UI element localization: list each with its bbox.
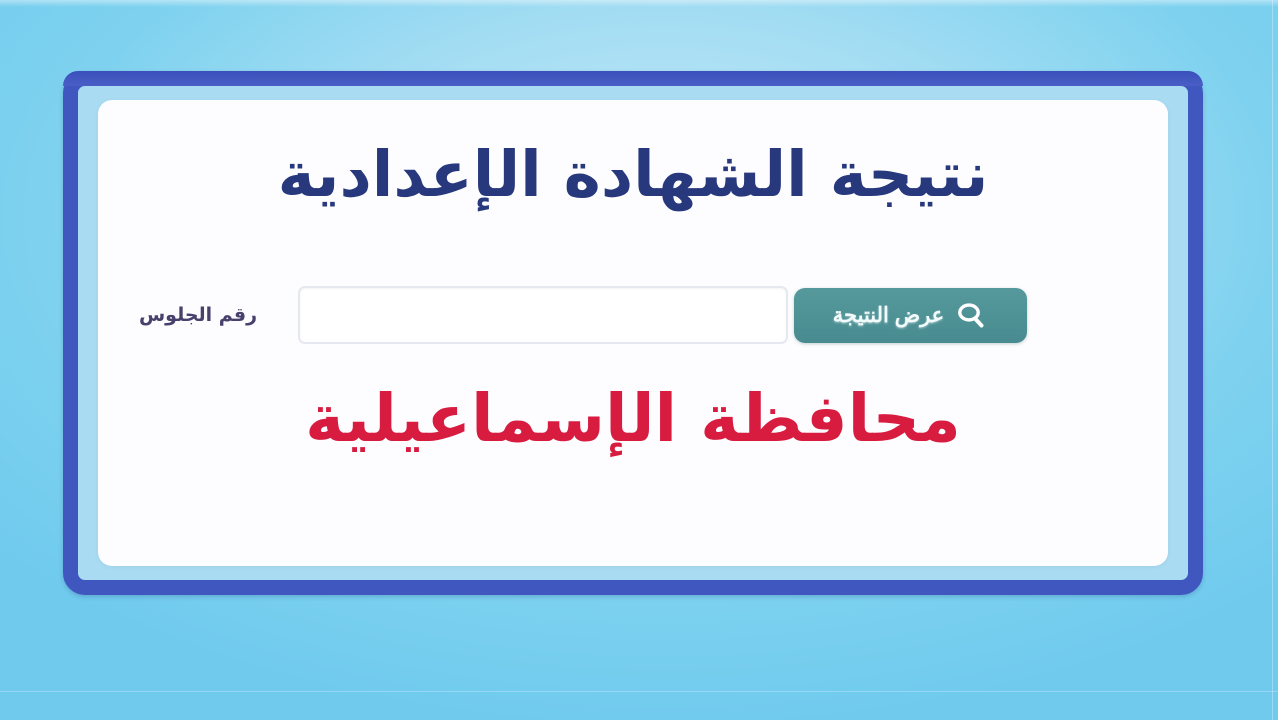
search-icon — [954, 298, 988, 332]
page-background: نتيجة الشهادة الإعدادية رقم الجلوس عرض ا… — [0, 0, 1278, 720]
show-result-button-label: عرض النتيجة — [833, 303, 944, 328]
show-result-button[interactable]: عرض النتيجة — [794, 288, 1027, 343]
result-card: نتيجة الشهادة الإعدادية رقم الجلوس عرض ا… — [98, 100, 1168, 566]
right-edge-hairline — [1272, 0, 1273, 720]
seat-number-input[interactable] — [298, 286, 788, 344]
bottom-edge-hairline — [0, 691, 1278, 692]
governorate-title: محافظة الإسماعيلية — [98, 383, 1168, 456]
seat-number-form: رقم الجلوس عرض النتيجة — [98, 280, 1168, 350]
top-sheen-decoration — [0, 0, 1278, 7]
page-title: نتيجة الشهادة الإعدادية — [98, 140, 1168, 209]
outer-blue-frame: نتيجة الشهادة الإعدادية رقم الجلوس عرض ا… — [63, 71, 1203, 595]
seat-number-label: رقم الجلوس — [98, 304, 298, 326]
